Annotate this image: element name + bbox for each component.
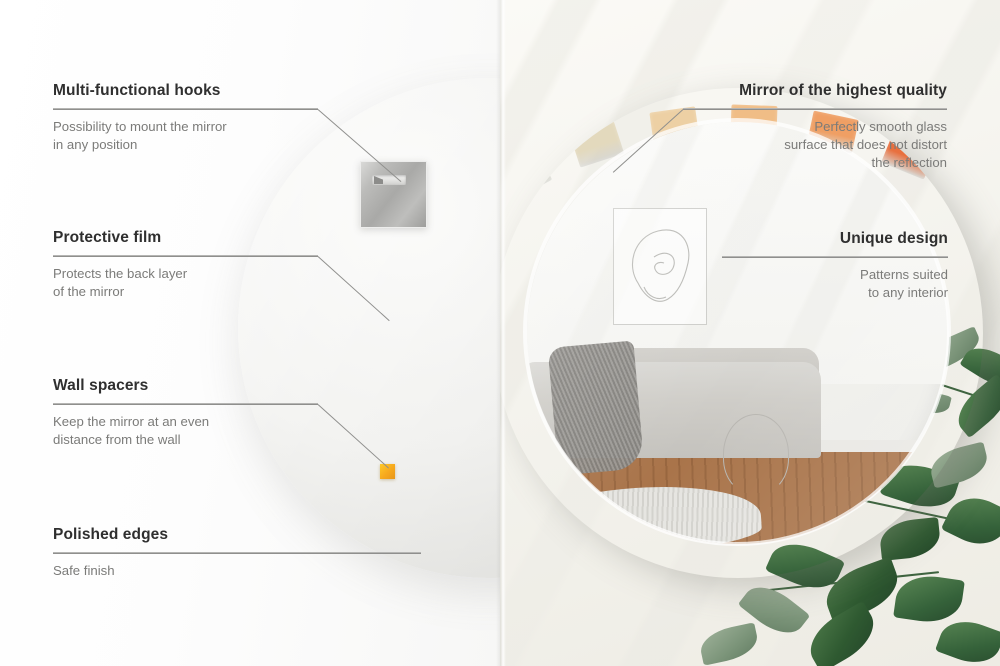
callout-body-line-1: Protects the back layer	[53, 265, 318, 283]
callout-multi-functional-hooks: Multi-functional hooks Possibility to mo…	[53, 82, 318, 154]
callout-body-line-1: Patterns suited	[722, 266, 948, 284]
frame-segment	[951, 165, 983, 218]
callout-rule	[722, 256, 948, 257]
callout-body-line-3: the reflection	[683, 154, 947, 172]
callout-rule	[53, 552, 421, 553]
callout-title: Unique design	[722, 230, 948, 248]
callout-polished-edges: Polished edges Safe finish	[53, 526, 421, 580]
callout-body-line-2: to any interior	[722, 284, 948, 302]
callout-body-line-2: surface that does not distort	[683, 136, 947, 154]
callout-wall-spacers: Wall spacers Keep the mirror at an even …	[53, 377, 318, 449]
callout-body-line-2: of the mirror	[53, 283, 318, 301]
callout-unique-design: Unique design Patterns suited to any int…	[722, 230, 948, 302]
callout-title: Mirror of the highest quality	[683, 82, 947, 100]
callout-title: Wall spacers	[53, 377, 318, 395]
callout-body-line-2: in any position	[53, 136, 318, 154]
callout-body-line-1: Perfectly smooth glass	[683, 118, 947, 136]
callout-title: Multi-functional hooks	[53, 82, 318, 100]
callout-body-line-1: Keep the mirror at an even	[53, 413, 318, 431]
callout-body-line-1: Safe finish	[53, 562, 421, 580]
mirror-inner-rim	[523, 118, 951, 546]
hook-plate-icon	[360, 161, 427, 228]
callout-body-line-1: Possibility to mount the mirror	[53, 118, 318, 136]
callout-rule	[683, 108, 947, 109]
infographic-canvas: Multi-functional hooks Possibility to mo…	[0, 0, 1000, 666]
callout-body-line-2: distance from the wall	[53, 431, 318, 449]
callout-rule	[53, 255, 318, 256]
callout-title: Polished edges	[53, 526, 421, 544]
callout-rule	[53, 108, 318, 109]
panel-split-edge	[496, 0, 506, 666]
callout-protective-film: Protective film Protects the back layer …	[53, 229, 318, 301]
callout-mirror-highest-quality: Mirror of the highest quality Perfectly …	[683, 82, 947, 172]
callout-title: Protective film	[53, 229, 318, 247]
callout-rule	[53, 403, 318, 404]
